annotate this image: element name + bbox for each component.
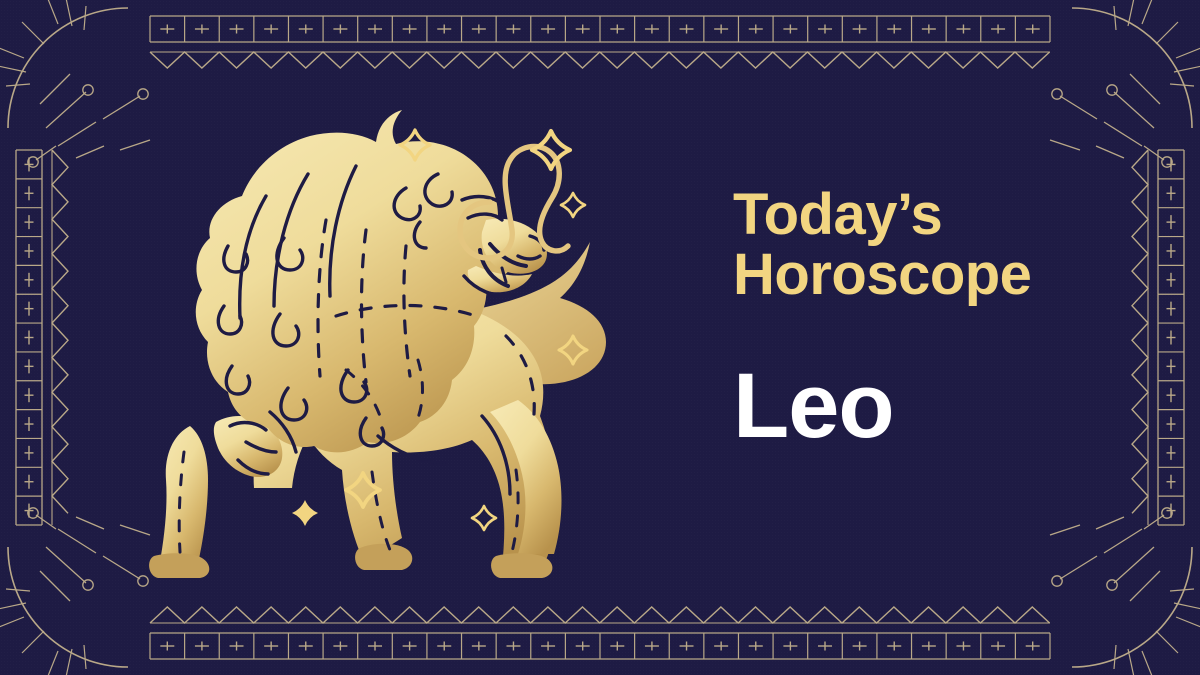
border-cell-top-plus-icon	[956, 25, 970, 34]
border-cell-top-plus-icon	[783, 25, 797, 34]
border-cell-right-plus-icon	[1167, 244, 1176, 258]
border-cell-top-plus-icon	[299, 25, 313, 34]
border-cell-top-plus-icon	[680, 25, 694, 34]
border-cell-left-plus-icon	[25, 475, 34, 489]
border-zigzag-left	[52, 150, 68, 513]
border-cell-bottom-plus-icon	[230, 642, 244, 651]
border-cell-top-plus-icon	[541, 25, 555, 34]
border-cell-left-plus-icon	[25, 157, 34, 171]
border-cell-top-plus-icon	[333, 25, 347, 34]
border-cell-top-plus-icon	[160, 25, 174, 34]
border-cell-left-plus-icon	[25, 504, 34, 518]
headline-block: Today’s Horoscope Leo	[733, 185, 1153, 452]
border-cell-bottom-plus-icon	[714, 642, 728, 651]
border-cell-bottom-plus-icon	[506, 642, 520, 651]
border-cell-top-plus-icon	[230, 25, 244, 34]
border-cell-right-plus-icon	[1167, 157, 1176, 171]
border-cell-top-plus-icon	[437, 25, 451, 34]
border-cell-bottom-plus-icon	[403, 642, 417, 651]
border-cell-left-plus-icon	[25, 388, 34, 402]
border-cell-bottom-plus-icon	[576, 642, 590, 651]
border-cell-left-plus-icon	[25, 244, 34, 258]
border-cell-bottom-plus-icon	[160, 642, 174, 651]
border-cell-bottom-plus-icon	[1026, 642, 1040, 651]
border-cells-bottom	[150, 633, 1050, 659]
border-cell-bottom-plus-icon	[472, 642, 486, 651]
border-zigzag-top	[150, 52, 1050, 68]
horoscope-graphic: Today’s Horoscope Leo	[0, 0, 1200, 675]
border-cell-left-plus-icon	[25, 359, 34, 373]
border-cell-top-plus-icon	[922, 25, 936, 34]
border-cell-bottom-plus-icon	[853, 642, 867, 651]
heading-line-2: Horoscope	[733, 245, 1153, 305]
border-cell-right-plus-icon	[1167, 475, 1176, 489]
border-cell-right-plus-icon	[1167, 359, 1176, 373]
border-cell-top-plus-icon	[368, 25, 382, 34]
border-cell-top-plus-icon	[853, 25, 867, 34]
border-cell-right-plus-icon	[1167, 504, 1176, 518]
border-zigzag-bottom	[150, 607, 1050, 623]
border-cell-bottom-plus-icon	[264, 642, 278, 651]
border-cell-bottom-plus-icon	[680, 642, 694, 651]
border-cell-bottom-plus-icon	[922, 642, 936, 651]
border-cell-top-plus-icon	[472, 25, 486, 34]
border-cell-top-plus-icon	[749, 25, 763, 34]
border-cell-right-plus-icon	[1167, 417, 1176, 431]
border-cell-left-plus-icon	[25, 273, 34, 287]
border-zigzag-left	[52, 150, 68, 513]
border-cells-left	[16, 150, 42, 525]
border-cell-top-plus-icon	[818, 25, 832, 34]
border-cells-top	[150, 16, 1050, 42]
border-cell-right-plus-icon	[1167, 446, 1176, 460]
border-cell-bottom-plus-icon	[333, 642, 347, 651]
border-cell-top-plus-icon	[887, 25, 901, 34]
border-cell-left-plus-icon	[25, 186, 34, 200]
border-cell-bottom-plus-icon	[783, 642, 797, 651]
border-cell-top-plus-icon	[195, 25, 209, 34]
border-cell-left-plus-icon	[25, 302, 34, 316]
border-cell-left-plus-icon	[25, 331, 34, 345]
border-cell-right-plus-icon	[1167, 186, 1176, 200]
border-cell-bottom-plus-icon	[991, 642, 1005, 651]
border-cell-bottom-plus-icon	[610, 642, 624, 651]
border-cell-top-plus-icon	[991, 25, 1005, 34]
border-cell-top-plus-icon	[645, 25, 659, 34]
border-zigzag-bottom	[150, 607, 1050, 623]
border-cell-top-plus-icon	[264, 25, 278, 34]
corner-sunburst-top-right	[1050, 0, 1200, 167]
border-cell-right-plus-icon	[1167, 273, 1176, 287]
border-cell-top-plus-icon	[506, 25, 520, 34]
zodiac-sign-name: Leo	[733, 360, 1153, 452]
border-cell-bottom-plus-icon	[956, 642, 970, 651]
border-cell-bottom-plus-icon	[749, 642, 763, 651]
border-cells-right	[1158, 150, 1184, 525]
border-cell-bottom-plus-icon	[818, 642, 832, 651]
leo-lion-illustration	[120, 70, 640, 600]
border-cell-top-plus-icon	[576, 25, 590, 34]
border-cell-top-plus-icon	[714, 25, 728, 34]
corner-sunburst-bottom-right	[1050, 508, 1200, 675]
border-cell-bottom-plus-icon	[887, 642, 901, 651]
border-cell-bottom-plus-icon	[437, 642, 451, 651]
border-cell-bottom-plus-icon	[299, 642, 313, 651]
border-cell-left-plus-icon	[25, 417, 34, 431]
border-cell-bottom-plus-icon	[195, 642, 209, 651]
border-cell-right-plus-icon	[1167, 302, 1176, 316]
border-cell-bottom-plus-icon	[368, 642, 382, 651]
border-cell-right-plus-icon	[1167, 331, 1176, 345]
border-cell-top-plus-icon	[403, 25, 417, 34]
border-cell-right-plus-icon	[1167, 388, 1176, 402]
heading-line-1: Today’s	[733, 185, 1153, 245]
border-cell-right-plus-icon	[1167, 215, 1176, 229]
border-cell-bottom-plus-icon	[645, 642, 659, 651]
border-cell-left-plus-icon	[25, 215, 34, 229]
border-cell-bottom-plus-icon	[541, 642, 555, 651]
border-cell-left-plus-icon	[25, 446, 34, 460]
border-zigzag-top	[150, 52, 1050, 68]
border-cell-top-plus-icon	[610, 25, 624, 34]
border-cell-top-plus-icon	[1026, 25, 1040, 34]
